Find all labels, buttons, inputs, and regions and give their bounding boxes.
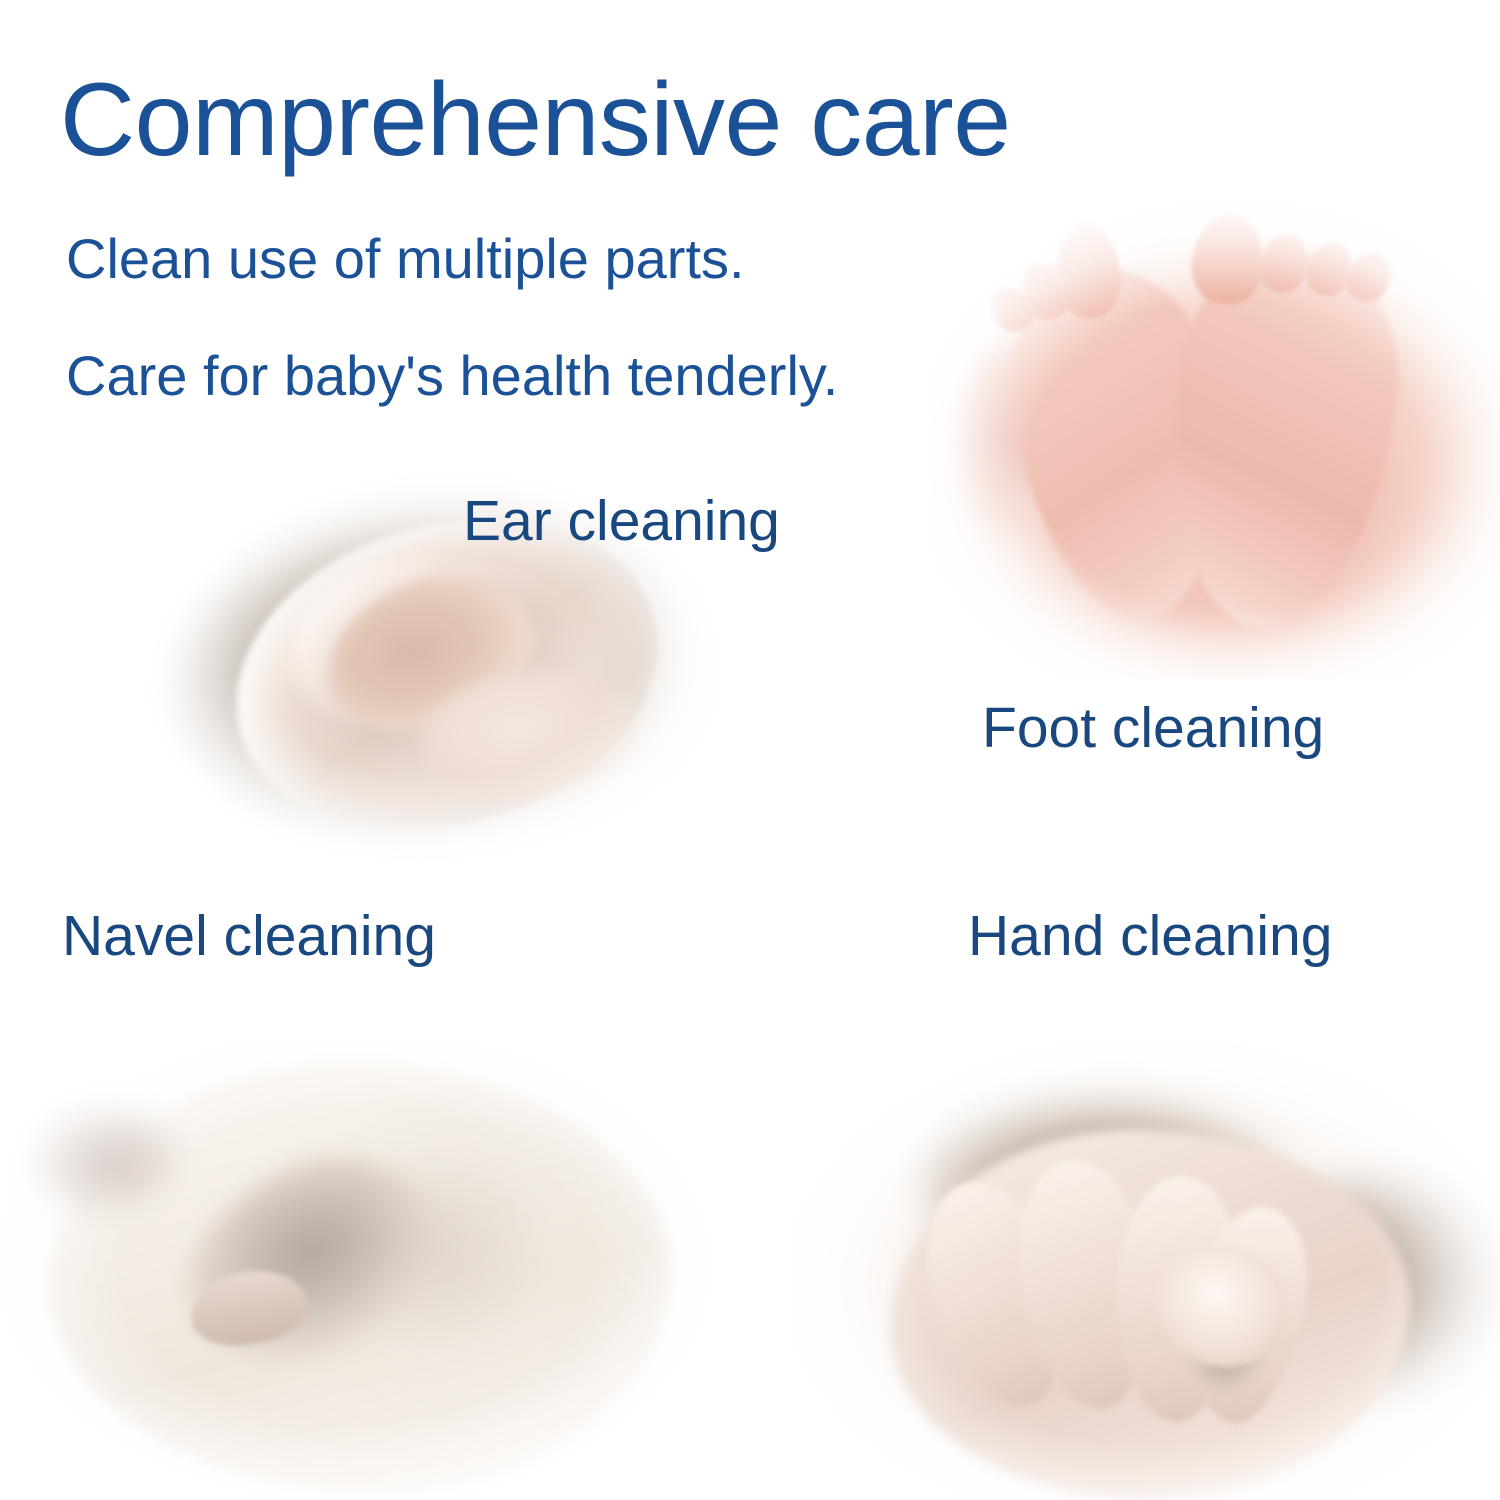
- product-feature-poster: Comprehensive care Clean use of multiple…: [0, 0, 1500, 1500]
- caption-navel-cleaning: Navel cleaning: [62, 905, 436, 968]
- baby-feet-photo-content: [930, 190, 1500, 680]
- baby-hand-photo: [790, 1040, 1500, 1500]
- caption-ear-cleaning: Ear cleaning: [463, 490, 780, 553]
- caption-hand-cleaning: Hand cleaning: [968, 905, 1332, 968]
- photo-edge-fade: [930, 190, 1500, 680]
- photo-edge-fade: [0, 1040, 750, 1500]
- baby-navel-photo: [0, 1040, 750, 1500]
- poster-subheadline-2: Care for baby's health tenderly.: [66, 345, 838, 407]
- baby-hand-photo-content: [790, 1040, 1500, 1500]
- baby-feet-photo: [930, 190, 1500, 680]
- caption-foot-cleaning: Foot cleaning: [982, 697, 1324, 760]
- photo-edge-fade: [790, 1040, 1500, 1500]
- poster-subheadline-1: Clean use of multiple parts.: [66, 228, 745, 290]
- baby-navel-photo-content: [0, 1040, 750, 1500]
- poster-headline: Comprehensive care: [60, 66, 1011, 175]
